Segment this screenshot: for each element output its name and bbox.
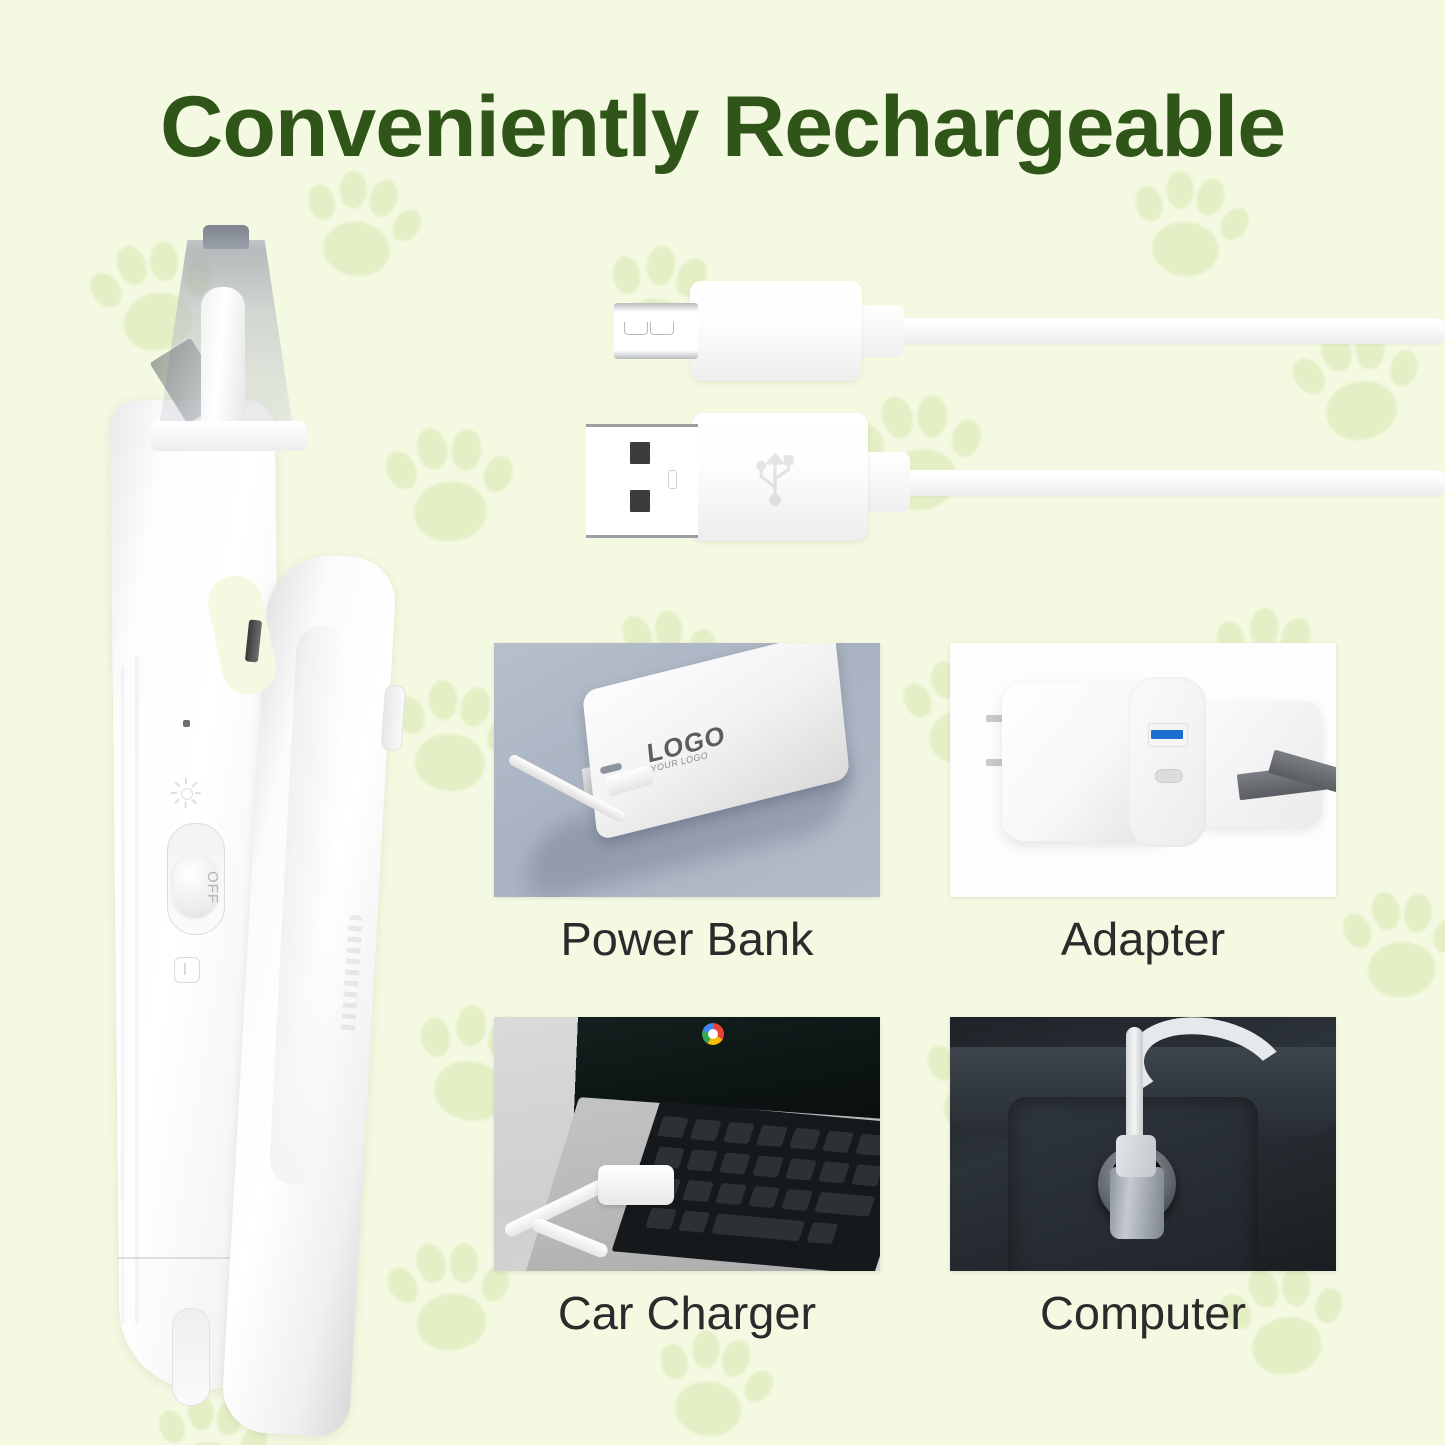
infographic-canvas: Conveniently Rechargeable (0, 0, 1445, 1445)
charging-option-label-adapter: Adapter (946, 912, 1340, 966)
charging-option-image-adapter (950, 643, 1336, 897)
usb-a-contact (630, 490, 650, 512)
adapter-port-face (1128, 677, 1206, 847)
charging-option-image-car-charger (494, 1017, 880, 1271)
usb-a-pinhole (668, 470, 677, 489)
charging-option-label-computer: Computer (946, 1286, 1340, 1340)
usb-a-cable-wire (896, 470, 1445, 496)
adapter-usb-a-port (1148, 723, 1188, 747)
charging-option-image-power-bank: LOGO YOUR LOGO (494, 643, 880, 897)
charging-option-label-power-bank: Power Bank (490, 912, 884, 966)
car-charger-cable-tip (1116, 1135, 1156, 1177)
car-charger-body (1110, 1167, 1164, 1239)
usb-plug-in-laptop-port (598, 1165, 674, 1205)
adapter-usb-c-port (1155, 769, 1183, 783)
chrome-logo-icon (702, 1023, 724, 1045)
charging-option-image-computer (950, 1017, 1336, 1271)
charging-option-label-car-charger: Car Charger (490, 1286, 884, 1340)
usb-trident-icon (740, 442, 810, 512)
usb-a-contact (630, 442, 650, 464)
